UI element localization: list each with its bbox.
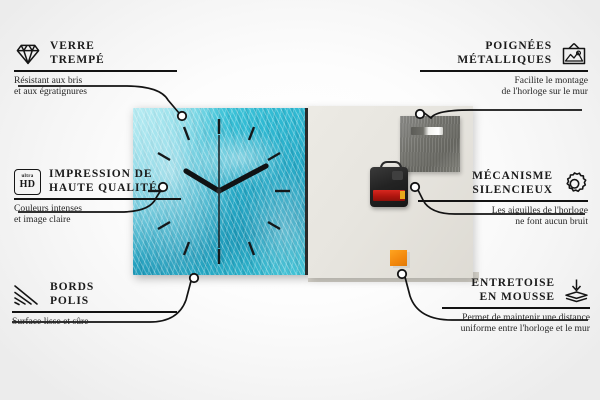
mechanism-notch [392, 171, 403, 180]
ultra-hd-icon-top-label: ultra [21, 174, 33, 179]
feature-divider [420, 70, 588, 72]
foam-spacer-arrow-icon [563, 278, 590, 304]
feature-title-line1: POIGNÉES [485, 40, 552, 52]
ultra-hd-icon: ultra HD [14, 169, 41, 195]
feature-verre-trempe: VERRE TREMPÉ Résistant aux bris et aux é… [14, 40, 182, 98]
wall-mount-frame-icon [560, 41, 588, 66]
feature-title-line2: MÉTALLIQUES [457, 54, 552, 66]
feature-title-line1: BORDS [50, 281, 94, 293]
feature-entretoise: ENTRETOISE EN MOUSSE Permet de maintenir… [442, 277, 590, 335]
infographic-canvas: VERRE TREMPÉ Résistant aux bris et aux é… [0, 0, 600, 400]
hanger-slot [411, 127, 443, 135]
feature-divider [418, 200, 588, 202]
feature-desc-line2: et image claire [14, 214, 70, 225]
feature-title-line2: TREMPÉ [50, 54, 105, 66]
feature-desc-line2: uniforme entre l'horloge et le mur [461, 323, 590, 334]
feature-title-line2: HAUTE QUALITÉ [49, 182, 158, 194]
feature-desc-line2: et aux égratignures [14, 86, 87, 97]
hand-pivot [216, 188, 221, 193]
orange-foam-spacer [390, 250, 407, 266]
hour-hand [186, 171, 219, 191]
feature-title-line1: MÉCANISME [472, 170, 553, 182]
feature-poignees: POIGNÉES MÉTALLIQUES Facilite le montage… [420, 40, 588, 98]
feature-desc-line1: Résistant aux bris [14, 75, 82, 86]
feature-divider [14, 198, 181, 200]
gear-icon [561, 171, 588, 197]
feature-title-line1: VERRE [50, 40, 95, 52]
feature-mecanisme: MÉCANISME SILENCIEUX Les aiguilles de l'… [418, 170, 588, 228]
feature-title-line2: SILENCIEUX [472, 184, 553, 196]
minute-hand [219, 166, 266, 191]
feature-divider [14, 70, 177, 72]
feature-desc-line2: de l'horloge sur le mur [502, 86, 588, 97]
feature-desc-line2: ne font aucun bruit [515, 216, 588, 227]
feature-title-line2: POLIS [50, 295, 89, 307]
feature-desc-line1: Surface lisse et sûre [12, 316, 88, 327]
metal-hanger-plate [400, 116, 460, 172]
feature-title-line1: IMPRESSION DE [49, 168, 152, 180]
feature-title-line2: EN MOUSSE [479, 291, 555, 303]
polished-edge-icon [12, 283, 42, 307]
feature-desc-line1: Facilite le montage [514, 75, 588, 86]
feature-title-line1: ENTRETOISE [471, 277, 555, 289]
feature-bords-polis: BORDS POLIS Surface lisse et sûre [12, 281, 180, 327]
feature-impression: ultra HD IMPRESSION DE HAUTE QUALITÉ Cou… [14, 168, 186, 226]
feature-divider [12, 311, 177, 313]
feature-desc-line1: Couleurs intenses [14, 203, 82, 214]
feature-divider [442, 307, 590, 309]
battery-terminal [400, 191, 405, 199]
feature-desc-line1: Permet de maintenir une distance [462, 312, 590, 323]
ultra-hd-icon-main-label: HD [20, 180, 36, 190]
diamond-icon [14, 42, 42, 66]
feature-desc-line1: Les aiguilles de l'horloge [492, 205, 588, 216]
